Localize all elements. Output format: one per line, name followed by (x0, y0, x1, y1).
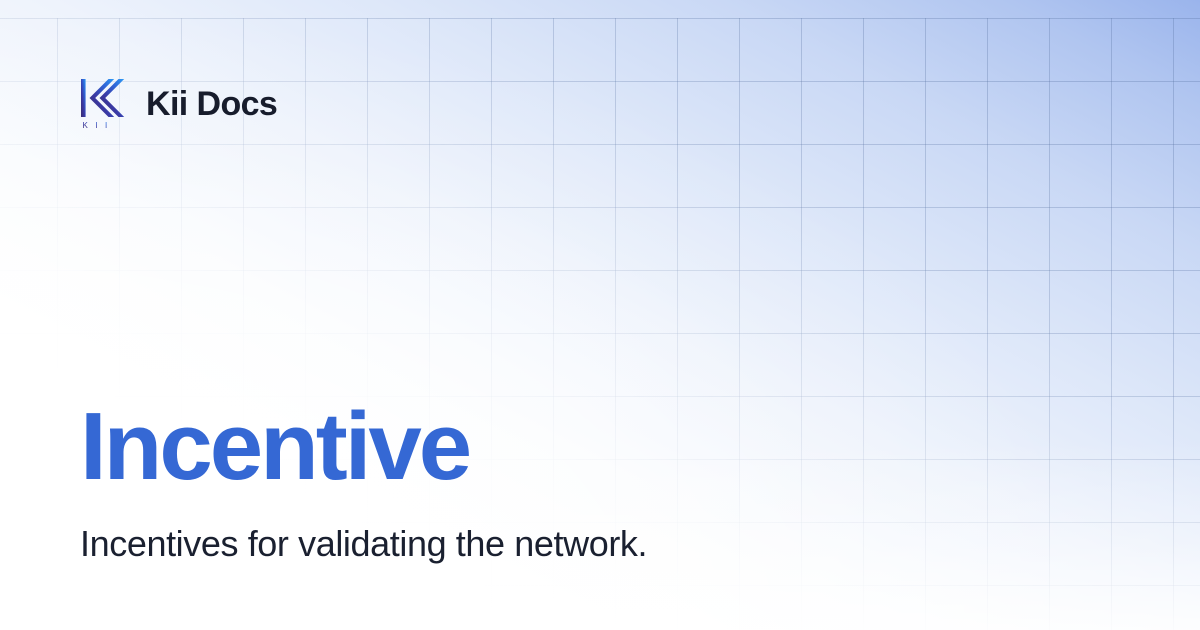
kii-wordmark-letters: KII (83, 121, 115, 130)
og-card: KII Kii Docs Incentive Incentives for va… (0, 0, 1200, 630)
brand-lockup[interactable]: KII Kii Docs (80, 78, 277, 130)
brand-title: Kii Docs (146, 87, 277, 121)
kii-k-logo-icon: KII (80, 78, 128, 130)
page-title: Incentive (80, 399, 980, 495)
page-subtitle: Incentives for validating the network. (80, 521, 980, 566)
hero-section: Incentive Incentives for validating the … (80, 399, 980, 566)
kii-logo: KII (80, 78, 128, 130)
